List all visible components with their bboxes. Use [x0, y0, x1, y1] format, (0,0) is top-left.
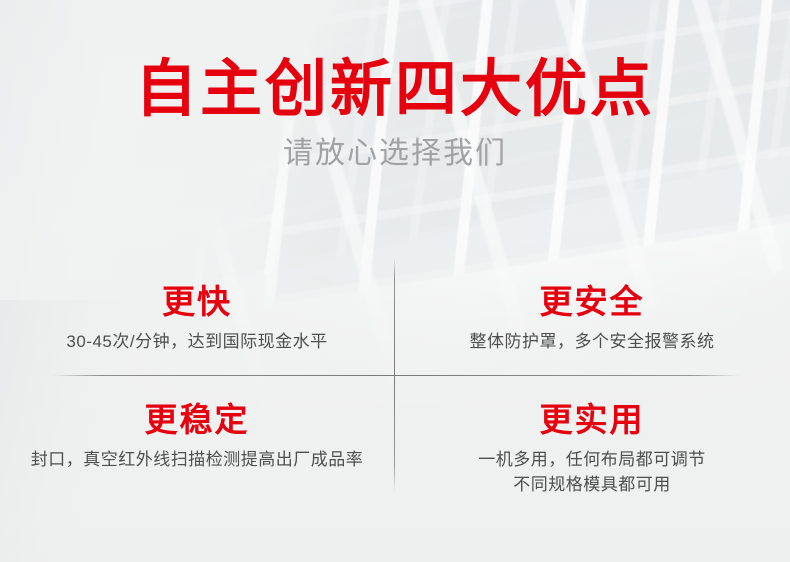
feature-description: 一机多用，任何布局都可调节 不同规格模具都可用	[478, 448, 706, 497]
page-title: 自主创新四大优点	[0, 0, 790, 122]
feature-title: 更稳定	[145, 402, 250, 439]
feature-item-more-practical: 更实用 一机多用，任何布局都可调节 不同规格模具都可用	[394, 376, 790, 498]
promo-banner: 自主创新四大优点 请放心选择我们 更快 30-45次/分钟，达到国际现金水平 更…	[0, 0, 790, 562]
feature-description-line: 不同规格模具都可用	[478, 473, 706, 498]
feature-description-line: 一机多用，任何布局都可调节	[478, 448, 706, 473]
feature-description: 整体防护罩，多个安全报警系统	[470, 330, 715, 355]
feature-description: 30-45次/分钟，达到国际现金水平	[66, 330, 327, 355]
feature-item-more-stable: 更稳定 封口，真空红外线扫描检测提高出厂成品率	[0, 376, 394, 498]
feature-title: 更实用	[540, 402, 645, 439]
feature-title: 更安全	[540, 284, 645, 321]
banner-header: 自主创新四大优点 请放心选择我们	[0, 0, 790, 172]
quadrant-horizontal-divider	[52, 375, 740, 376]
background-bottom-flat-area	[0, 492, 790, 562]
feature-item-safer: 更安全 整体防护罩，多个安全报警系统	[394, 258, 790, 376]
feature-description: 封口，真空红外线扫描检测提高出厂成品率	[31, 448, 364, 473]
feature-item-faster: 更快 30-45次/分钟，达到国际现金水平	[0, 258, 394, 376]
feature-grid: 更快 30-45次/分钟，达到国际现金水平 更安全 整体防护罩，多个安全报警系统…	[0, 258, 790, 498]
feature-title: 更快	[162, 284, 232, 321]
page-subtitle: 请放心选择我们	[0, 122, 790, 172]
